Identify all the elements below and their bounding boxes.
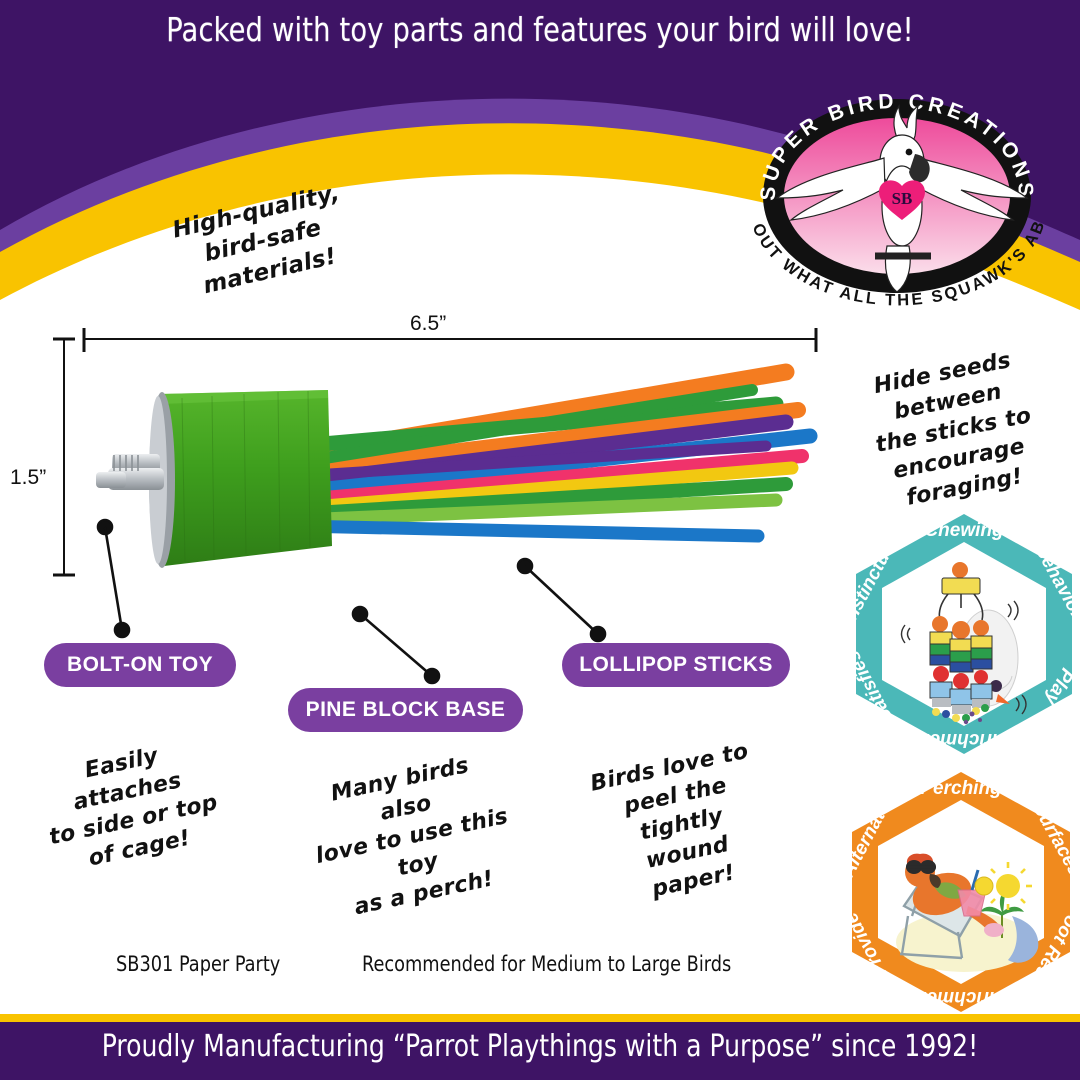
callout-label: BOLT-ON TOY — [67, 653, 213, 677]
svg-text:Enrichment: Enrichment — [908, 987, 1013, 1008]
callout-bolt-on-toy[interactable]: BOLT-ON TOY — [44, 643, 236, 687]
svg-text:Enrichment: Enrichment — [911, 729, 1016, 750]
hex-label-bottom: Enrichment — [911, 729, 1016, 750]
hex-label-top: Chewing — [924, 520, 1004, 541]
svg-text:Perching: Perching — [920, 778, 1002, 799]
hex-label-bottom: Enrichment — [908, 987, 1013, 1008]
hex-label-top: Perching — [920, 778, 1002, 799]
callout-label: PINE BLOCK BASE — [306, 698, 506, 722]
svg-text:Chewing: Chewing — [924, 520, 1004, 541]
callout-lollipop-sticks[interactable]: LOLLIPOP STICKS — [562, 643, 790, 687]
callout-label: LOLLIPOP STICKS — [579, 653, 772, 677]
product-sku-name: SB301 Paper Party — [116, 952, 280, 976]
product-recommendation: Recommended for Medium to Large Birds — [362, 952, 731, 976]
footer-tagline: Proudly Manufacturing “Parrot Playthings… — [38, 1029, 1042, 1064]
callout-pine-block-base[interactable]: PINE BLOCK BASE — [288, 688, 523, 732]
chewing-hexagon: Chewing Behavior Play Enrichment Satisfi… — [848, 508, 1080, 758]
perching-hexagon: Perching Surfaces Foot Rest Enrichment P… — [842, 766, 1080, 1016]
footer-divider — [0, 1014, 1080, 1022]
infographic-canvas: Packed with toy parts and features your … — [0, 0, 1080, 1080]
